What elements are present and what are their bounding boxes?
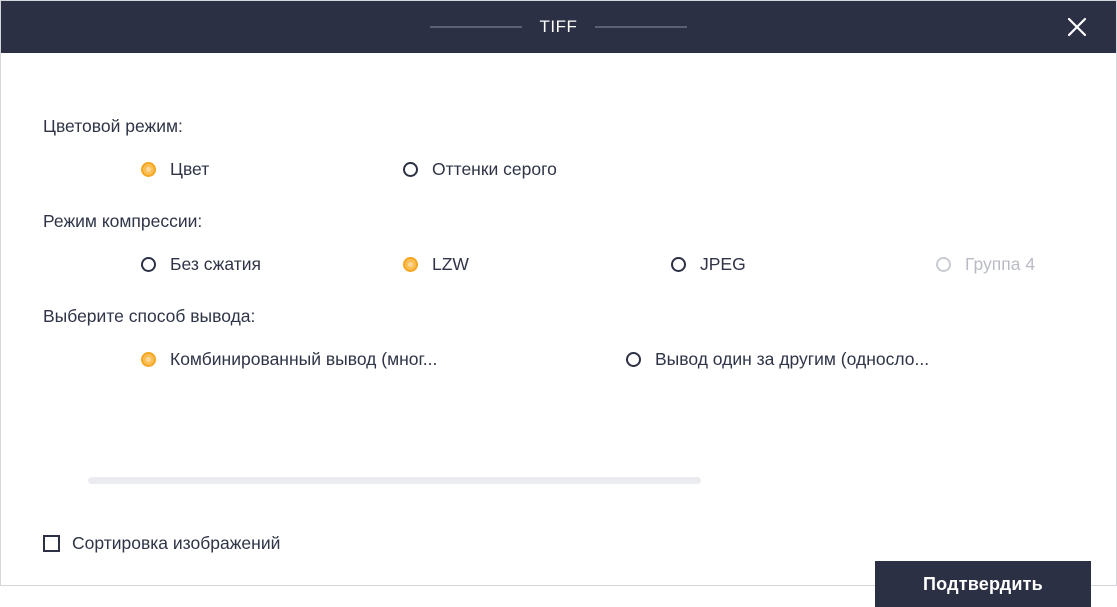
radio-indicator-color[interactable]: [141, 162, 156, 177]
horizontal-scrollbar[interactable]: [88, 477, 701, 484]
option-row-color-mode: Цвет Оттенки серого: [1, 159, 1116, 185]
radio-label-no-compression: Без сжатия: [170, 254, 261, 275]
radio-indicator-no-compression[interactable]: [141, 257, 156, 272]
radio-indicator-grayscale[interactable]: [403, 162, 418, 177]
title-rule-right: [595, 26, 687, 28]
dialog-titlebar: TIFF: [1, 1, 1116, 53]
option-row-output-method: Комбинированный вывод (мног... Вывод оди…: [1, 349, 1116, 375]
group-label-color-mode: Цветовой режим:: [43, 116, 183, 137]
radio-label-sequential-output: Вывод один за другим (односло...: [655, 349, 929, 370]
radio-option-sequential-output[interactable]: Вывод один за другим (односло...: [626, 349, 929, 370]
tiff-export-dialog: TIFF Цветовой режим: Цвет Оттенки серого…: [0, 0, 1117, 586]
radio-option-combined-output[interactable]: Комбинированный вывод (мног...: [141, 349, 437, 370]
radio-label-combined-output: Комбинированный вывод (мног...: [170, 349, 437, 370]
radio-option-group4: Группа 4: [936, 254, 1035, 275]
radio-label-group4: Группа 4: [965, 254, 1035, 275]
title-wrap: TIFF: [430, 17, 688, 37]
radio-option-grayscale[interactable]: Оттенки серого: [403, 159, 557, 180]
option-row-compression-mode: Без сжатия LZW JPEG Группа 4: [1, 254, 1116, 280]
radio-label-lzw: LZW: [432, 254, 469, 275]
sort-images-checkbox-row[interactable]: Сортировка изображений: [43, 533, 280, 554]
radio-indicator-lzw[interactable]: [403, 257, 418, 272]
radio-indicator-group4: [936, 257, 951, 272]
radio-label-color: Цвет: [170, 159, 209, 180]
radio-option-no-compression[interactable]: Без сжатия: [141, 254, 261, 275]
radio-indicator-combined-output[interactable]: [141, 352, 156, 367]
radio-indicator-jpeg[interactable]: [671, 257, 686, 272]
page-title: TIFF: [540, 17, 578, 37]
group-label-output-method: Выберите способ вывода:: [43, 306, 255, 327]
sort-images-label: Сортировка изображений: [72, 533, 280, 554]
radio-option-color[interactable]: Цвет: [141, 159, 209, 180]
radio-label-jpeg: JPEG: [700, 254, 746, 275]
sort-images-checkbox[interactable]: [43, 535, 60, 552]
confirm-button[interactable]: Подтвердить: [875, 561, 1091, 607]
dialog-body: Цветовой режим: Цвет Оттенки серого Режи…: [1, 53, 1116, 585]
radio-option-jpeg[interactable]: JPEG: [671, 254, 746, 275]
radio-option-lzw[interactable]: LZW: [403, 254, 469, 275]
radio-label-grayscale: Оттенки серого: [432, 159, 557, 180]
group-label-compression-mode: Режим компрессии:: [43, 211, 202, 232]
close-icon[interactable]: [1060, 10, 1094, 44]
title-rule-left: [430, 26, 522, 28]
radio-indicator-sequential-output[interactable]: [626, 352, 641, 367]
